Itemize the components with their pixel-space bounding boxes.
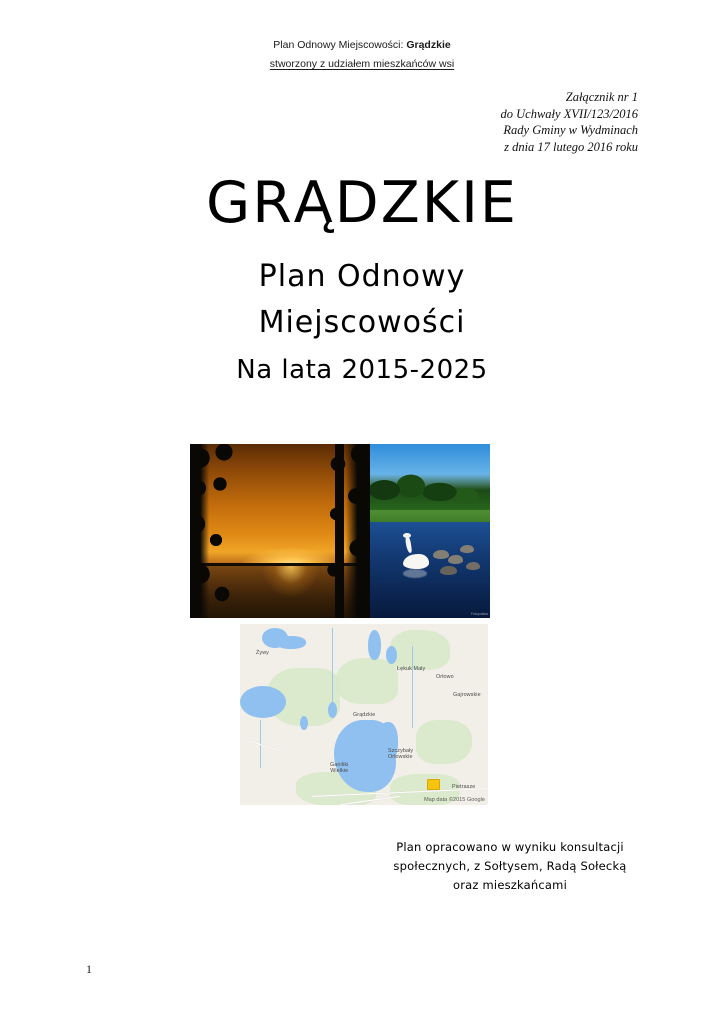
map-lake-lekuk — [386, 646, 397, 664]
location-map: Żywy Łękuk Mały Orłowo Gajrowskie Grądzk… — [240, 624, 488, 805]
map-label-gajrowskie: Gajrowskie — [453, 692, 481, 698]
tree-silhouette-left — [190, 444, 254, 618]
map-stream-2 — [412, 646, 413, 728]
map-lake-west — [240, 686, 286, 718]
swans-forest — [370, 474, 490, 514]
map-lake-small-1 — [328, 702, 337, 718]
subtitle-line-2: Miejscowości — [0, 303, 724, 343]
closing-note: Plan opracowano w wyniku konsultacji spo… — [380, 838, 640, 895]
header-village-name: Grądzkie — [406, 39, 450, 51]
map-label-szczybaly-orlowskie: Szczybały Orłowskie — [388, 748, 413, 760]
swan-adult-body — [403, 554, 429, 569]
page-title: GRĄDZKIE — [0, 172, 724, 234]
map-label-ganiliki-wielkie: Ganiliki Wielkie — [330, 762, 348, 774]
cygnet-1 — [433, 550, 449, 559]
photo-sunset-over-lake — [190, 444, 370, 618]
swan-adult-head — [403, 533, 411, 538]
photo-credit: Fotopolska — [471, 612, 488, 616]
tree-trunk — [335, 444, 344, 618]
header-line-1-prefix: Plan Odnowy Miejscowości: — [273, 39, 406, 51]
map-green-area-2 — [336, 658, 398, 704]
header-line-2: stworzony z udziałem mieszkańców wsi — [0, 55, 724, 74]
map-label-lekuk-maly: Łękuk Mały — [397, 666, 425, 672]
map-label-pietrasze: Pietrasze — [452, 784, 475, 790]
map-road-shield-marker[interactable] — [427, 779, 440, 790]
header-line-1: Plan Odnowy Miejscowości: Grądzkie — [0, 36, 724, 55]
subtitle-line-3: Na lata 2015-2025 — [0, 353, 724, 387]
document-header: Plan Odnowy Miejscowości: Grądzkie stwor… — [0, 36, 724, 74]
swans-lake — [370, 522, 490, 618]
cygnet-3 — [460, 545, 474, 553]
photo-swans-on-lake: Fotopolska — [370, 444, 490, 618]
map-label-gradzkie: Grądzkie — [353, 712, 375, 718]
cygnet-4 — [440, 566, 457, 575]
map-lake-small-2 — [300, 716, 308, 730]
map-lake-zywy-2 — [276, 636, 306, 649]
map-attribution: Map data ©2015 Google — [424, 797, 485, 803]
page-number: 1 — [86, 962, 92, 977]
map-stream-1 — [332, 628, 333, 702]
map-green-area-4 — [416, 720, 472, 764]
annex-reference-block: Załącznik nr 1 do Uchwały XVII/123/2016 … — [501, 89, 638, 155]
cygnet-2 — [448, 555, 463, 564]
map-label-zywy: Żywy — [256, 650, 269, 656]
subtitle-line-1: Plan Odnowy — [0, 257, 724, 297]
map-label-orlowo: Orłowo — [436, 674, 454, 680]
map-green-area-3 — [390, 630, 450, 670]
photo-strip: Fotopolska — [190, 444, 490, 618]
document-page: Plan Odnowy Miejscowości: Grądzkie stwor… — [0, 0, 724, 1024]
cygnet-5 — [466, 562, 480, 570]
map-lake-north — [368, 630, 381, 660]
